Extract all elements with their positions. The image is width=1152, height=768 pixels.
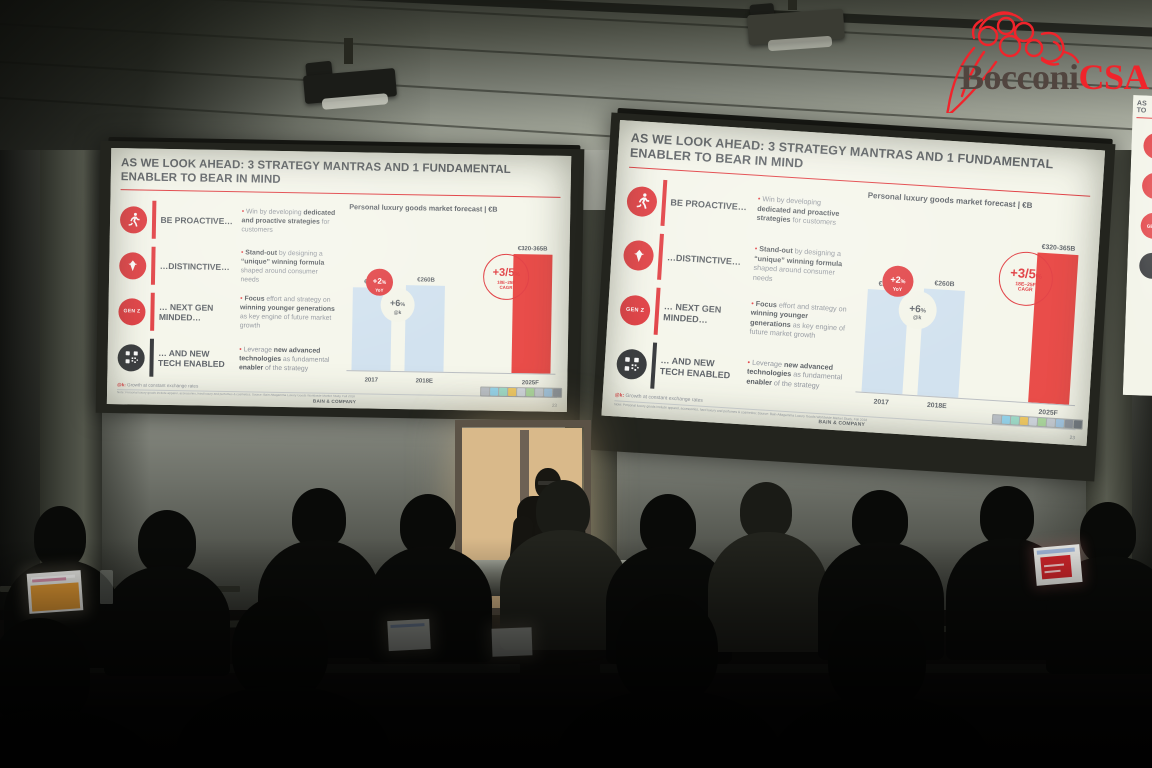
pen-icon[interactable] — [490, 388, 498, 396]
bullet-bold: Stand-out — [245, 250, 277, 258]
slide-left: AS WE LOOK AHEAD: 3 STRATEGY MANTRAS AND… — [107, 148, 571, 412]
slide-page-number: 23 — [1069, 436, 1075, 441]
mantra-list: BE PROACTIVE… • Win by developing dedica… — [615, 173, 856, 405]
running-person-icon — [1143, 132, 1152, 159]
gem-diamond-icon — [119, 252, 146, 279]
more-icon[interactable] — [544, 389, 552, 397]
more-icon[interactable] — [1056, 419, 1064, 427]
mantra-row-proactive: BE PROACTIVE… • Win by developing dedica… — [120, 196, 338, 246]
bar-label-2018e: €260B — [934, 280, 954, 288]
yoy-unit: % — [900, 279, 905, 285]
tick-2018e: 2018E — [910, 401, 963, 411]
accent-bar — [650, 342, 656, 389]
mantra-text-proactive: • Win by developing dedicated and proact… — [239, 208, 337, 237]
mantra-text-nextgen: • Focus effort and strategy on winning y… — [747, 298, 849, 342]
slide-right: AS WE LOOK AHEAD: 3 STRATEGY MANTRAS AND… — [601, 120, 1105, 446]
tick-2017: 2017 — [855, 398, 908, 408]
audience-laptop-screen — [387, 619, 431, 651]
bar-chart: €254B €260B — [344, 213, 560, 388]
bullet-bold: Focus — [244, 296, 264, 303]
cagr-unit: % — [1035, 274, 1042, 281]
pointer-icon[interactable] — [481, 387, 489, 395]
yoy-unit: % — [382, 280, 387, 286]
pointer-icon[interactable] — [993, 415, 1001, 423]
qr-tech-icon — [616, 348, 648, 380]
zoom-icon[interactable] — [526, 388, 534, 396]
mantra-label-proactive: BE PROACTIVE… — [160, 215, 234, 226]
audience-laptop-screen — [27, 570, 84, 614]
eraser-icon[interactable] — [508, 388, 516, 396]
tick-2018e: 2018E — [399, 379, 449, 386]
audience-shoulders-foreground — [0, 710, 160, 768]
bullet-lead: Win by developing — [246, 208, 302, 216]
cagr-fx-unit: % — [400, 302, 405, 308]
bullet-lead: Leverage — [244, 346, 272, 353]
cagr-fx-sub: @k — [913, 316, 922, 322]
audience-head — [34, 506, 86, 568]
mantra-label-distinctive: …DISTINCTIVE… — [667, 252, 748, 268]
bullet-tail: for customers — [792, 216, 836, 228]
bar-slot-gap — [452, 233, 504, 373]
cagr-fx-value: +6 — [909, 303, 921, 315]
gem-diamond-icon — [1142, 172, 1152, 199]
mantra-list: BE PROACTIVE… • Win by developing dedica… — [117, 196, 337, 384]
slide-page-number: 23 — [552, 403, 557, 408]
mantra-label-proactive: BE PROACTIVE… — [670, 198, 751, 214]
audience-head-foreground — [828, 604, 926, 710]
tick-gap — [452, 379, 502, 386]
slides-grid-icon[interactable] — [517, 388, 525, 396]
cagr-value: +3/5 — [1010, 265, 1037, 282]
gen-z-icon: GEN Z — [1140, 212, 1152, 239]
mantra-label-nextgen: … NEXT GEN MINDED… — [159, 302, 233, 324]
mantra-label-tech: … AND NEW TECH ENABLED — [158, 348, 232, 370]
mantra-text-distinctive: • Stand-out by designing a “unique” winn… — [238, 249, 336, 287]
mantra-text-proactive: • Win by developing dedicated and proact… — [754, 194, 855, 229]
cagr-fx-sub: @k — [394, 311, 402, 316]
zoom-icon[interactable] — [1038, 418, 1046, 426]
audience-laptop-screen — [492, 627, 533, 656]
accent-bar — [660, 179, 666, 226]
mantra-label-tech: … AND NEW TECH ENABLED — [659, 355, 740, 382]
bullet-bold2: enabler — [746, 376, 772, 387]
bar-group: €254B €260B — [855, 219, 1085, 405]
audience-head — [1080, 502, 1136, 564]
mantra-row-distinctive: …DISTINCTIVE… • Stand-out by designing a… — [119, 242, 337, 292]
bar-chart: €254B €260B — [853, 201, 1089, 419]
mantra-text-distinctive: • Stand-out by designing a “unique” winn… — [751, 244, 853, 288]
yoy-sub: YoY — [893, 287, 903, 293]
audience-head — [138, 510, 196, 574]
bullet-tail: as key engine of future market growth — [240, 314, 332, 330]
water-bottle — [100, 570, 113, 604]
bullet-tail: shaped around consumer needs — [240, 267, 317, 283]
accent-bar — [657, 234, 663, 281]
mantra-label-distinctive: …DISTINCTIVE… — [160, 261, 234, 272]
accent-bar — [151, 247, 155, 285]
yoy-sub: YoY — [375, 288, 383, 293]
highlighter-icon[interactable] — [1011, 416, 1019, 424]
gen-z-label: GEN Z — [124, 309, 141, 315]
bullet-mid: by designing a — [279, 250, 323, 258]
ppt-presenter-toolbar[interactable] — [480, 386, 562, 397]
highlighter-icon[interactable] — [499, 388, 507, 396]
cagr-unit: % — [514, 272, 519, 278]
mantra-label-nextgen: … NEXT GEN MINDED… — [663, 301, 744, 328]
mantra-text-nextgen: • Focus effort and strategy on winning y… — [238, 296, 336, 334]
audience-head — [852, 490, 908, 550]
footnote-marker: @k: — [615, 392, 625, 399]
slide-title: AS WE LOOK AHEAD: 3 STRATEGY MANTRAS AND… — [121, 156, 561, 192]
bar-group: €254B €260B — [346, 231, 557, 374]
pen-icon[interactable] — [1002, 416, 1010, 424]
audience-laptop-screen — [1033, 544, 1082, 586]
bar-label-2025f: €320-365B — [1041, 244, 1075, 253]
bullet-tail: of the strategy — [774, 378, 820, 390]
gem-diamond-icon — [623, 240, 655, 272]
x-axis-ticks: 2017 2018E 2025F — [346, 378, 555, 388]
title-divider — [1136, 117, 1152, 120]
audience-head-foreground — [616, 594, 718, 704]
cagr-value: +3/5 — [493, 267, 515, 279]
magnify-icon[interactable] — [1074, 420, 1082, 428]
cagr-sub2: CAGR — [499, 286, 512, 291]
mantra-row-tech: … AND NEW TECH ENABLED • Leverage new ad… — [117, 334, 335, 384]
accent-bar — [152, 201, 156, 239]
tick-2017: 2017 — [346, 378, 396, 385]
bain-logo: BAIN & COMPANY — [313, 399, 356, 405]
thumbnails-icon[interactable] — [553, 389, 561, 397]
mantra-text-tech: • Leverage new advanced technologies as … — [237, 346, 335, 375]
cagr-fx-value: +6 — [390, 298, 400, 308]
audience — [0, 468, 1152, 768]
audience-head — [292, 488, 346, 548]
audience-shoulders-foreground — [770, 696, 990, 768]
chart-panel: Personal luxury goods market forecast | … — [340, 200, 560, 388]
audience-head — [980, 486, 1034, 546]
lecture-hall-photo: AS WE LOOK AHEAD: 3 STRATEGY MANTRAS AND… — [0, 0, 1152, 768]
eraser-icon[interactable] — [1020, 417, 1028, 425]
bar-label-2018e: €260B — [417, 277, 435, 283]
bar-label-2025f: €320-365B — [518, 246, 548, 253]
accent-bar — [150, 293, 154, 331]
footnote-marker: @k: — [117, 383, 126, 388]
gen-z-label: GEN Z — [626, 306, 645, 313]
slide-title-partial: ASTO — [1137, 100, 1152, 116]
thumbnails-icon[interactable] — [1065, 420, 1073, 428]
bullet-tail: of the strategy — [265, 365, 308, 373]
running-person-icon — [120, 206, 147, 233]
cagr-sub2: CAGR — [1018, 287, 1033, 293]
bullet-mid: as fundamental — [283, 356, 330, 364]
audience-shoulders-foreground — [176, 686, 390, 768]
qr-tech-icon — [117, 344, 144, 371]
projection-screen-left: AS WE LOOK AHEAD: 3 STRATEGY MANTRAS AND… — [96, 141, 585, 424]
chart-panel: Personal luxury goods market forecast | … — [849, 188, 1090, 420]
bullet-bold2: winning younger generations — [240, 305, 335, 314]
audience-head-foreground — [232, 596, 328, 700]
accent-bar — [149, 339, 153, 377]
bullet-mid: effort and strategy on — [266, 296, 330, 304]
footnote-text: Growth at constant exchange rates — [127, 383, 198, 389]
bullet-bold2: enabler — [239, 364, 263, 371]
gen-z-icon: GEN Z — [619, 294, 651, 326]
bullet-bold2: “unique” winning formula — [241, 258, 325, 266]
audience-shoulders-foreground — [556, 690, 782, 768]
black-screen-icon[interactable] — [1047, 418, 1055, 426]
gen-z-icon: GEN Z — [118, 298, 145, 325]
mantra-text-tech: • Leverage new advanced technologies as … — [744, 357, 845, 392]
black-screen-icon[interactable] — [535, 388, 543, 396]
audience-shoulders — [708, 532, 828, 652]
qr-tech-icon — [1139, 252, 1152, 279]
projection-screen-right: AS WE LOOK AHEAD: 3 STRATEGY MANTRAS AND… — [590, 112, 1116, 493]
running-person-icon — [626, 185, 658, 217]
accent-bar — [654, 288, 660, 335]
yoy-value: +2 — [373, 276, 382, 285]
slide-surface-left: AS WE LOOK AHEAD: 3 STRATEGY MANTRAS AND… — [107, 148, 571, 412]
cagr-fx-unit: % — [920, 308, 926, 314]
slide-surface-right: AS WE LOOK AHEAD: 3 STRATEGY MANTRAS AND… — [601, 120, 1105, 446]
mantra-row-nextgen: GEN Z … NEXT GEN MINDED… • Focus effort … — [118, 288, 336, 338]
audience-shoulders — [104, 566, 230, 676]
slides-grid-icon[interactable] — [1029, 417, 1037, 425]
